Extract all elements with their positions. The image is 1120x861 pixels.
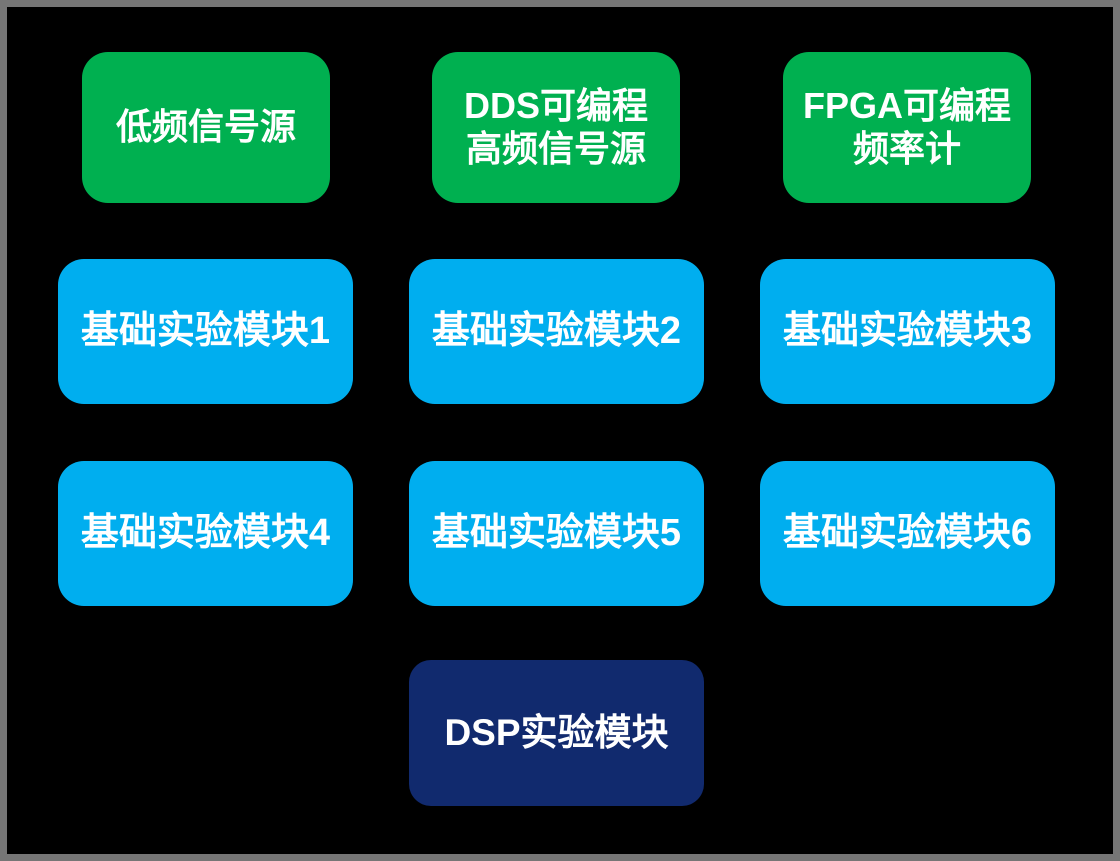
node-basic-module-6[interactable]: 基础实验模块6 [760,461,1055,606]
node-low-freq-source[interactable]: 低频信号源 [82,52,330,203]
node-basic-module-2[interactable]: 基础实验模块2 [409,259,704,404]
node-dds-high-freq-source[interactable]: DDS可编程 高频信号源 [432,52,680,203]
node-basic-module-3[interactable]: 基础实验模块3 [760,259,1055,404]
node-fpga-freq-counter[interactable]: FPGA可编程 频率计 [783,52,1031,203]
node-basic-module-1[interactable]: 基础实验模块1 [58,259,353,404]
diagram-canvas: 低频信号源 DDS可编程 高频信号源 FPGA可编程 频率计 基础实验模块1 基… [0,0,1120,861]
node-basic-module-5[interactable]: 基础实验模块5 [409,461,704,606]
node-basic-module-4[interactable]: 基础实验模块4 [58,461,353,606]
node-dsp-module[interactable]: DSP实验模块 [409,660,704,806]
